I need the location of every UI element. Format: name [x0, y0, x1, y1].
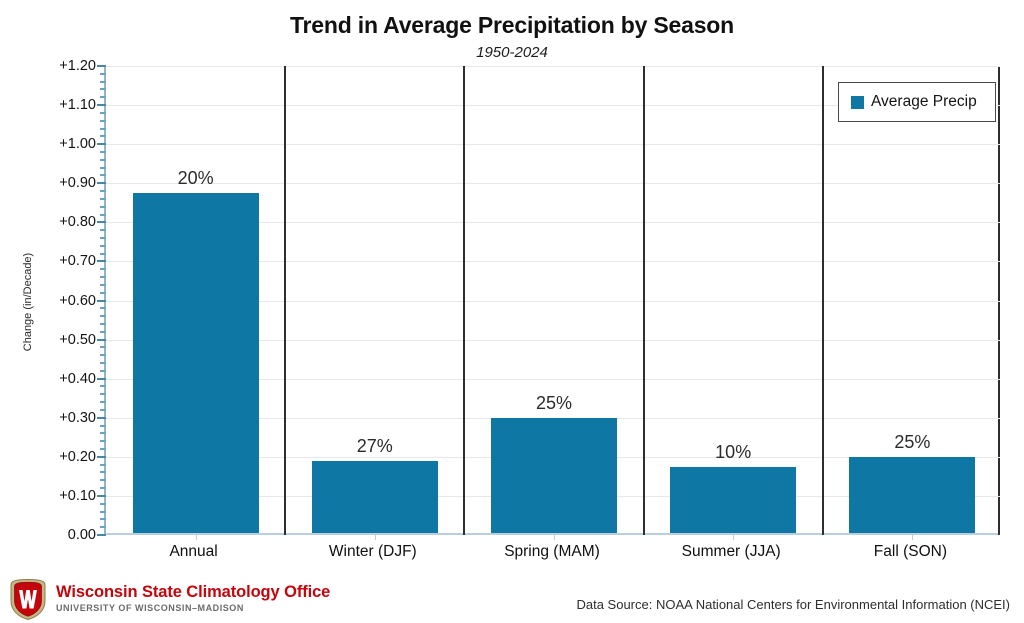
y-axis-minor-tick [100, 401, 106, 403]
y-axis-minor-tick [100, 190, 106, 192]
y-axis-major-tick [97, 300, 106, 302]
y-axis-minor-tick [100, 464, 106, 466]
y-axis-minor-tick [100, 206, 106, 208]
y-axis-minor-tick [100, 88, 106, 90]
y-axis-minor-tick [100, 487, 106, 489]
legend-swatch-icon [851, 96, 864, 109]
y-axis-minor-tick [100, 284, 106, 286]
y-axis-major-tick [97, 182, 106, 184]
x-axis-category-label: Fall (SON) [820, 543, 1000, 561]
chart-title: Trend in Average Precipitation by Season [0, 12, 1024, 39]
wisconsin-climatology-logo: Wisconsin State Climatology Office UNIVE… [8, 577, 330, 621]
y-axis-minor-tick [100, 151, 106, 153]
y-axis-major-tick [97, 65, 106, 67]
y-axis-minor-tick [100, 159, 106, 161]
y-axis-minor-tick [100, 276, 106, 278]
x-axis-tick [912, 533, 913, 540]
y-axis-minor-tick [100, 268, 106, 270]
y-axis-major-tick [97, 378, 106, 380]
y-axis-minor-tick [100, 167, 106, 169]
y-axis-tick-label: +0.10 [12, 488, 96, 504]
x-axis-tick [196, 533, 197, 540]
logo-text-block: Wisconsin State Climatology Office UNIVE… [56, 584, 330, 614]
x-axis-category-label: Spring (MAM) [462, 543, 642, 561]
y-axis-minor-tick [100, 174, 106, 176]
y-axis-minor-tick [100, 409, 106, 411]
y-axis-major-tick [97, 417, 106, 419]
bar[interactable] [491, 418, 617, 533]
chart-legend[interactable]: Average Precip [838, 82, 996, 122]
bar-value-label: 25% [494, 393, 614, 414]
data-source-note: Data Source: NOAA National Centers for E… [576, 597, 1010, 612]
y-axis-minor-tick [100, 393, 106, 395]
bar-value-label: 27% [315, 436, 435, 457]
x-axis-tick [375, 533, 376, 540]
bar-value-label: 10% [673, 442, 793, 463]
y-axis-minor-tick [100, 112, 106, 114]
y-axis-minor-tick [100, 307, 106, 309]
x-axis-category-label: Summer (JJA) [641, 543, 821, 561]
y-axis-tick-label: +1.10 [12, 97, 96, 113]
y-axis-major-tick [97, 221, 106, 223]
y-axis-major-tick [97, 456, 106, 458]
y-axis-minor-tick [100, 253, 106, 255]
bar[interactable] [670, 467, 796, 533]
footer: Wisconsin State Climatology Office UNIVE… [0, 575, 1024, 623]
y-axis-tick-label: +0.90 [12, 175, 96, 191]
y-axis-tick-label: +0.80 [12, 214, 96, 230]
y-axis-tick-label: 0.00 [12, 527, 96, 543]
y-axis-minor-tick [100, 198, 106, 200]
gridline [106, 66, 1000, 67]
y-axis-tick-label: +1.00 [12, 136, 96, 152]
y-axis-minor-tick [100, 120, 106, 122]
y-axis-minor-tick [100, 448, 106, 450]
y-axis-major-tick [97, 339, 106, 341]
y-axis-minor-tick [100, 370, 106, 372]
y-axis-minor-tick [100, 471, 106, 473]
y-axis-major-tick [97, 495, 106, 497]
y-axis-minor-tick [100, 214, 106, 216]
y-axis-minor-tick [100, 315, 106, 317]
bar[interactable] [133, 193, 259, 533]
x-axis-category-label: Annual [104, 543, 284, 561]
y-axis-minor-tick [100, 237, 106, 239]
y-axis-minor-tick [100, 425, 106, 427]
y-axis-minor-tick [100, 128, 106, 130]
y-axis-major-tick [97, 143, 106, 145]
y-axis-major-tick [97, 104, 106, 106]
y-axis-minor-tick [100, 323, 106, 325]
bar-value-label: 25% [852, 432, 972, 453]
y-axis-minor-tick [100, 331, 106, 333]
legend-label: Average Precip [871, 93, 977, 111]
y-axis-tick-labels: Change (in/Decade) +1.20+1.10+1.00+0.90+… [8, 66, 96, 535]
y-axis-tick-label: +0.70 [12, 253, 96, 269]
y-axis-minor-tick [100, 511, 106, 513]
y-axis-minor-tick [100, 245, 106, 247]
y-axis-minor-tick [100, 81, 106, 83]
y-axis-minor-tick [100, 362, 106, 364]
category-separator [463, 66, 465, 535]
x-axis-category-label: Winter (DJF) [283, 543, 463, 561]
y-axis-tick-label: +1.20 [12, 58, 96, 74]
y-axis-minor-tick [100, 346, 106, 348]
y-axis-minor-tick [100, 135, 106, 137]
y-axis-tick-label: +0.60 [12, 293, 96, 309]
logo-subtitle: UNIVERSITY OF WISCONSIN–MADISON [56, 604, 330, 613]
y-axis-minor-tick [100, 526, 106, 528]
y-axis-minor-tick [100, 479, 106, 481]
y-axis-minor-tick [100, 518, 106, 520]
y-axis-major-tick [97, 534, 106, 536]
y-axis-tick-label: +0.30 [12, 410, 96, 426]
bar-value-label: 20% [136, 168, 256, 189]
category-separator [284, 66, 286, 535]
plot-area: 20%27%25%10%25% [104, 66, 1000, 535]
chart-subtitle: 1950-2024 [0, 44, 1024, 61]
y-axis-minor-tick [100, 229, 106, 231]
bar[interactable] [849, 457, 975, 533]
y-axis-minor-tick [100, 503, 106, 505]
y-axis-tick-label: +0.40 [12, 371, 96, 387]
y-axis-major-tick [97, 260, 106, 262]
category-separator [643, 66, 645, 535]
y-axis-minor-tick [100, 96, 106, 98]
y-axis-tick-label: +0.50 [12, 332, 96, 348]
y-axis-minor-tick [100, 73, 106, 75]
gridline [106, 144, 1000, 145]
y-axis-minor-tick [100, 432, 106, 434]
y-axis-minor-tick [100, 385, 106, 387]
y-axis-minor-tick [100, 440, 106, 442]
y-axis-tick-label: +0.20 [12, 449, 96, 465]
y-axis-minor-tick [100, 292, 106, 294]
y-axis-minor-tick [100, 354, 106, 356]
logo-title: Wisconsin State Climatology Office [56, 584, 330, 601]
bar[interactable] [312, 461, 438, 533]
x-axis-tick [554, 533, 555, 540]
x-axis-tick [733, 533, 734, 540]
uw-crest-icon [8, 577, 48, 621]
category-separator [822, 66, 824, 535]
